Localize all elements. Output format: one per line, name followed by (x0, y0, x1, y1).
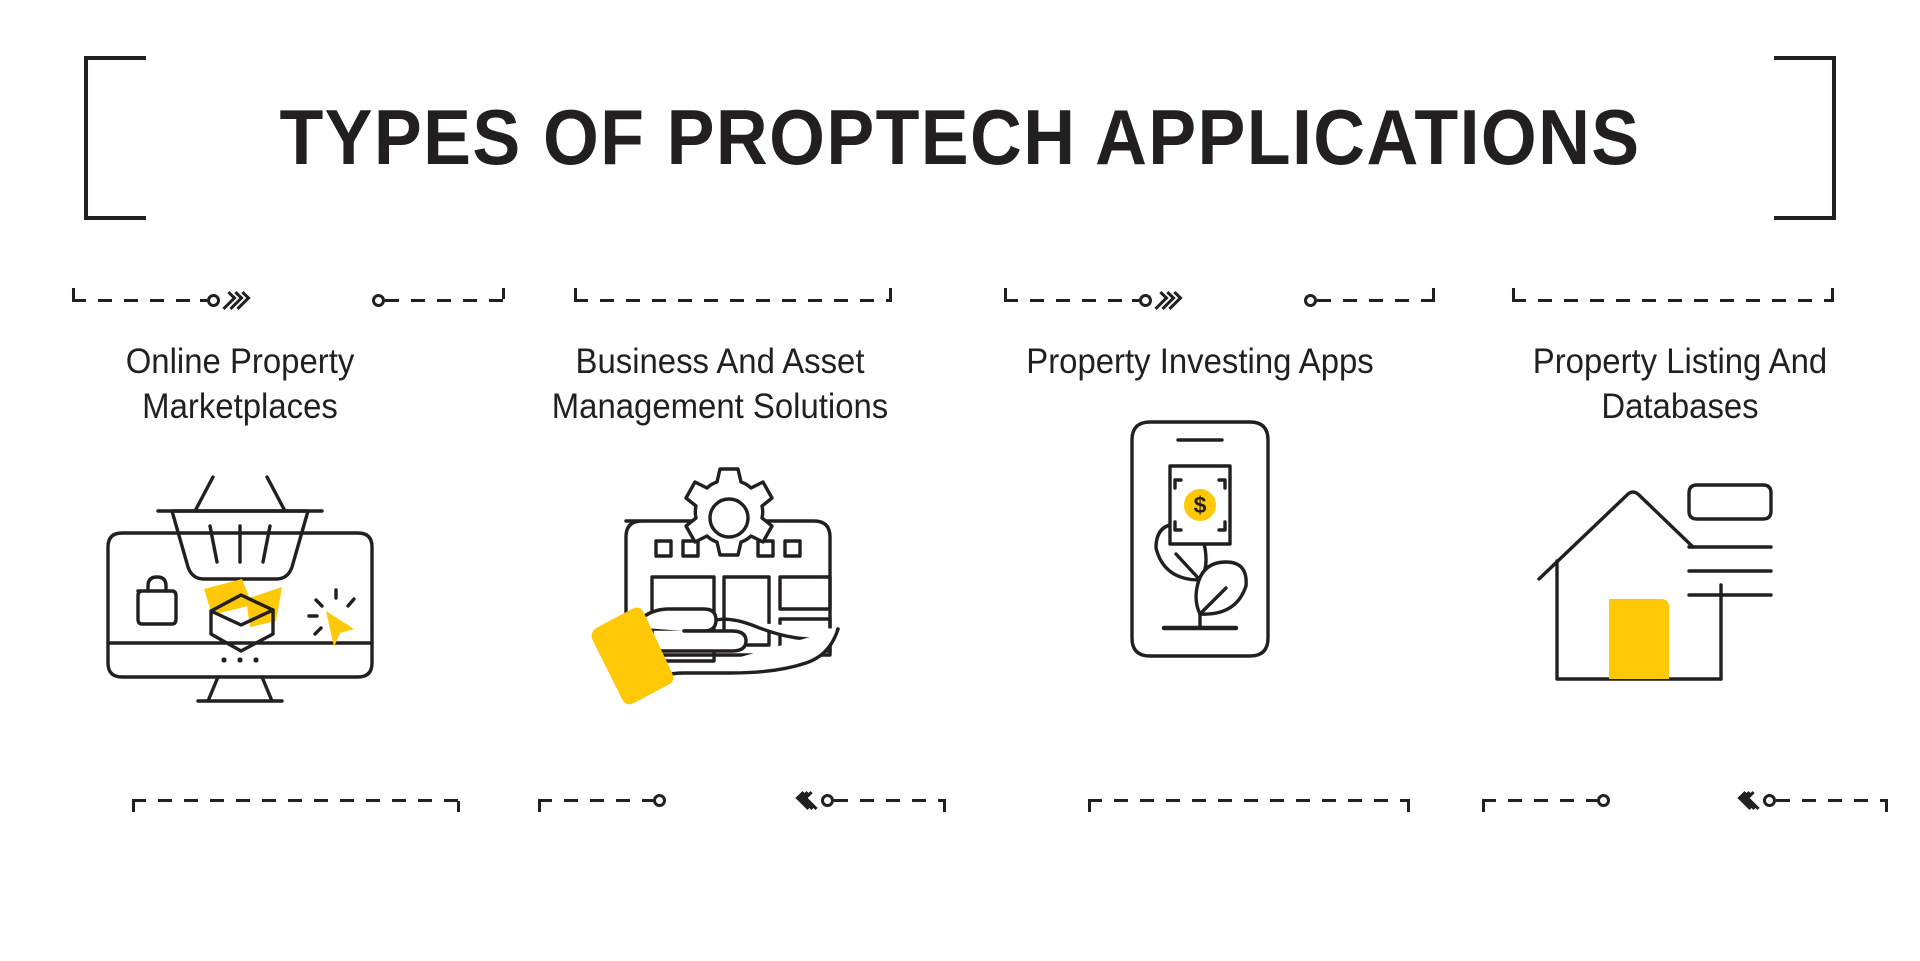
bracket-horizontal-stroke (1774, 216, 1836, 220)
panel-small-square-4 (785, 541, 800, 556)
bottom-decoration-row-1 (0, 780, 480, 820)
deco-tick (1432, 288, 1435, 299)
panel-small-square-3 (758, 541, 773, 556)
deco-tick (1885, 801, 1888, 812)
deco-stub (646, 799, 653, 802)
deco-ring (1763, 794, 1776, 807)
deco-chevrons-left-ring-dashed-line (1740, 788, 1888, 812)
deco-tick (1407, 801, 1410, 812)
deco-long-dashed-line (1088, 788, 1410, 812)
deco-dash-line (1512, 299, 1834, 302)
top-decoration-row-2 (480, 280, 960, 326)
deco-ring (1597, 794, 1610, 807)
handbag-body (138, 591, 176, 624)
deco-chevrons-right-icon (225, 292, 246, 309)
column-heading: Property Investing Apps (1003, 340, 1398, 385)
deco-dashed-line-ring (1482, 788, 1610, 812)
column-heading: Business And Asset Management Solutions (523, 340, 918, 430)
deco-dash-line (574, 299, 892, 302)
infographic-canvas: TYPES OF PROPTECH APPLICATIONS (0, 0, 1920, 961)
top-decoration-row-3 (960, 280, 1440, 326)
deco-chevrons-left-icon (803, 792, 815, 809)
deco-stub (1132, 299, 1139, 302)
dollar-sign: $ (1194, 492, 1207, 518)
deco-ring (1304, 294, 1317, 307)
deco-long-dashed-line (132, 788, 460, 812)
basket-handle-left (195, 477, 213, 511)
bottom-decoration-row-3 (960, 780, 1440, 820)
house-roof (1539, 492, 1693, 579)
deco-tick (538, 801, 541, 812)
listing-card-header (1689, 485, 1771, 519)
deco-dash-line (834, 799, 946, 802)
deco-tick (457, 801, 460, 812)
panel-small-square-1 (656, 541, 671, 556)
plant-leaf-right (1196, 562, 1246, 614)
gear-center-hole (710, 499, 748, 537)
click-ray-upright (348, 599, 354, 606)
yellow-door (1609, 599, 1669, 679)
top-decoration-row-1 (0, 280, 480, 326)
deco-tick (1088, 801, 1091, 812)
deco-chevrons-left-icon (1745, 792, 1757, 809)
deco-ring-dashed-line (1304, 288, 1435, 312)
panel-tile-right-top (780, 577, 830, 609)
deco-chevrons-left-ring-dashed-line (798, 788, 946, 812)
deco-dash-line (1004, 299, 1132, 302)
deco-long-dashed-line (574, 288, 892, 312)
columns-container: Online Property Marketplaces (0, 280, 1920, 714)
property-listing-database-icon (1530, 454, 1830, 714)
deco-chevrons-right-icon (1157, 292, 1178, 309)
deco-stub (1590, 799, 1597, 802)
column-property-listing-databases: Property Listing And Databases (1440, 280, 1920, 714)
deco-dashed-line-ring-chevrons-right (1004, 288, 1178, 312)
deco-ring (821, 794, 834, 807)
deco-dash-line (72, 299, 200, 302)
deco-tick (943, 801, 946, 812)
column-property-investing-apps: Property Investing Apps (960, 280, 1440, 714)
screen-dot-2 (237, 657, 242, 662)
deco-dash-line (1776, 799, 1888, 802)
deco-dash-line (132, 799, 460, 802)
deco-tick (72, 288, 75, 299)
bracket-horizontal-stroke (1774, 56, 1836, 60)
deco-dashed-line-ring-chevrons-right (72, 288, 246, 312)
page-title: TYPES OF PROPTECH APPLICATIONS (77, 92, 1843, 183)
deco-ring (653, 794, 666, 807)
bottom-decoration-row-4 (1440, 780, 1920, 820)
bottom-decoration-row-2 (480, 780, 960, 820)
deco-tick (132, 801, 135, 812)
deco-ring (372, 294, 385, 307)
deco-tick (1482, 801, 1485, 812)
deco-dash-line (1317, 299, 1435, 302)
top-decoration-row-4 (1440, 280, 1920, 326)
column-online-property-marketplaces: Online Property Marketplaces (0, 280, 480, 714)
deco-dash-line (1088, 799, 1410, 802)
screen-dot-1 (221, 657, 226, 662)
monitor-stand-left (208, 677, 218, 701)
property-investing-app-icon: $ (1050, 409, 1350, 669)
click-ray-upleft (316, 600, 322, 606)
deco-tick (1512, 288, 1515, 299)
deco-tick (574, 288, 577, 299)
deco-long-dashed-line (1512, 288, 1834, 312)
deco-dash-line (1482, 799, 1590, 802)
deco-tick (1831, 288, 1834, 299)
basket-handle-right (267, 477, 285, 511)
business-asset-management-icon (570, 454, 870, 714)
deco-dash-line (538, 799, 646, 802)
deco-stub (200, 299, 207, 302)
deco-tick (889, 288, 892, 299)
bracket-horizontal-stroke (84, 216, 146, 220)
column-heading: Property Listing And Databases (1483, 340, 1878, 430)
click-ray-downleft (315, 628, 321, 634)
bracket-horizontal-stroke (84, 56, 146, 60)
online-property-marketplace-icon (90, 454, 390, 714)
handbag-handle (148, 577, 166, 591)
column-business-asset-management: Business And Asset Management Solutions (480, 280, 960, 714)
screen-dot-3 (253, 657, 258, 662)
column-heading: Online Property Marketplaces (43, 340, 438, 430)
deco-dashed-line-ring (538, 788, 666, 812)
deco-tick (1004, 288, 1007, 299)
monitor-stand-right (262, 677, 272, 701)
